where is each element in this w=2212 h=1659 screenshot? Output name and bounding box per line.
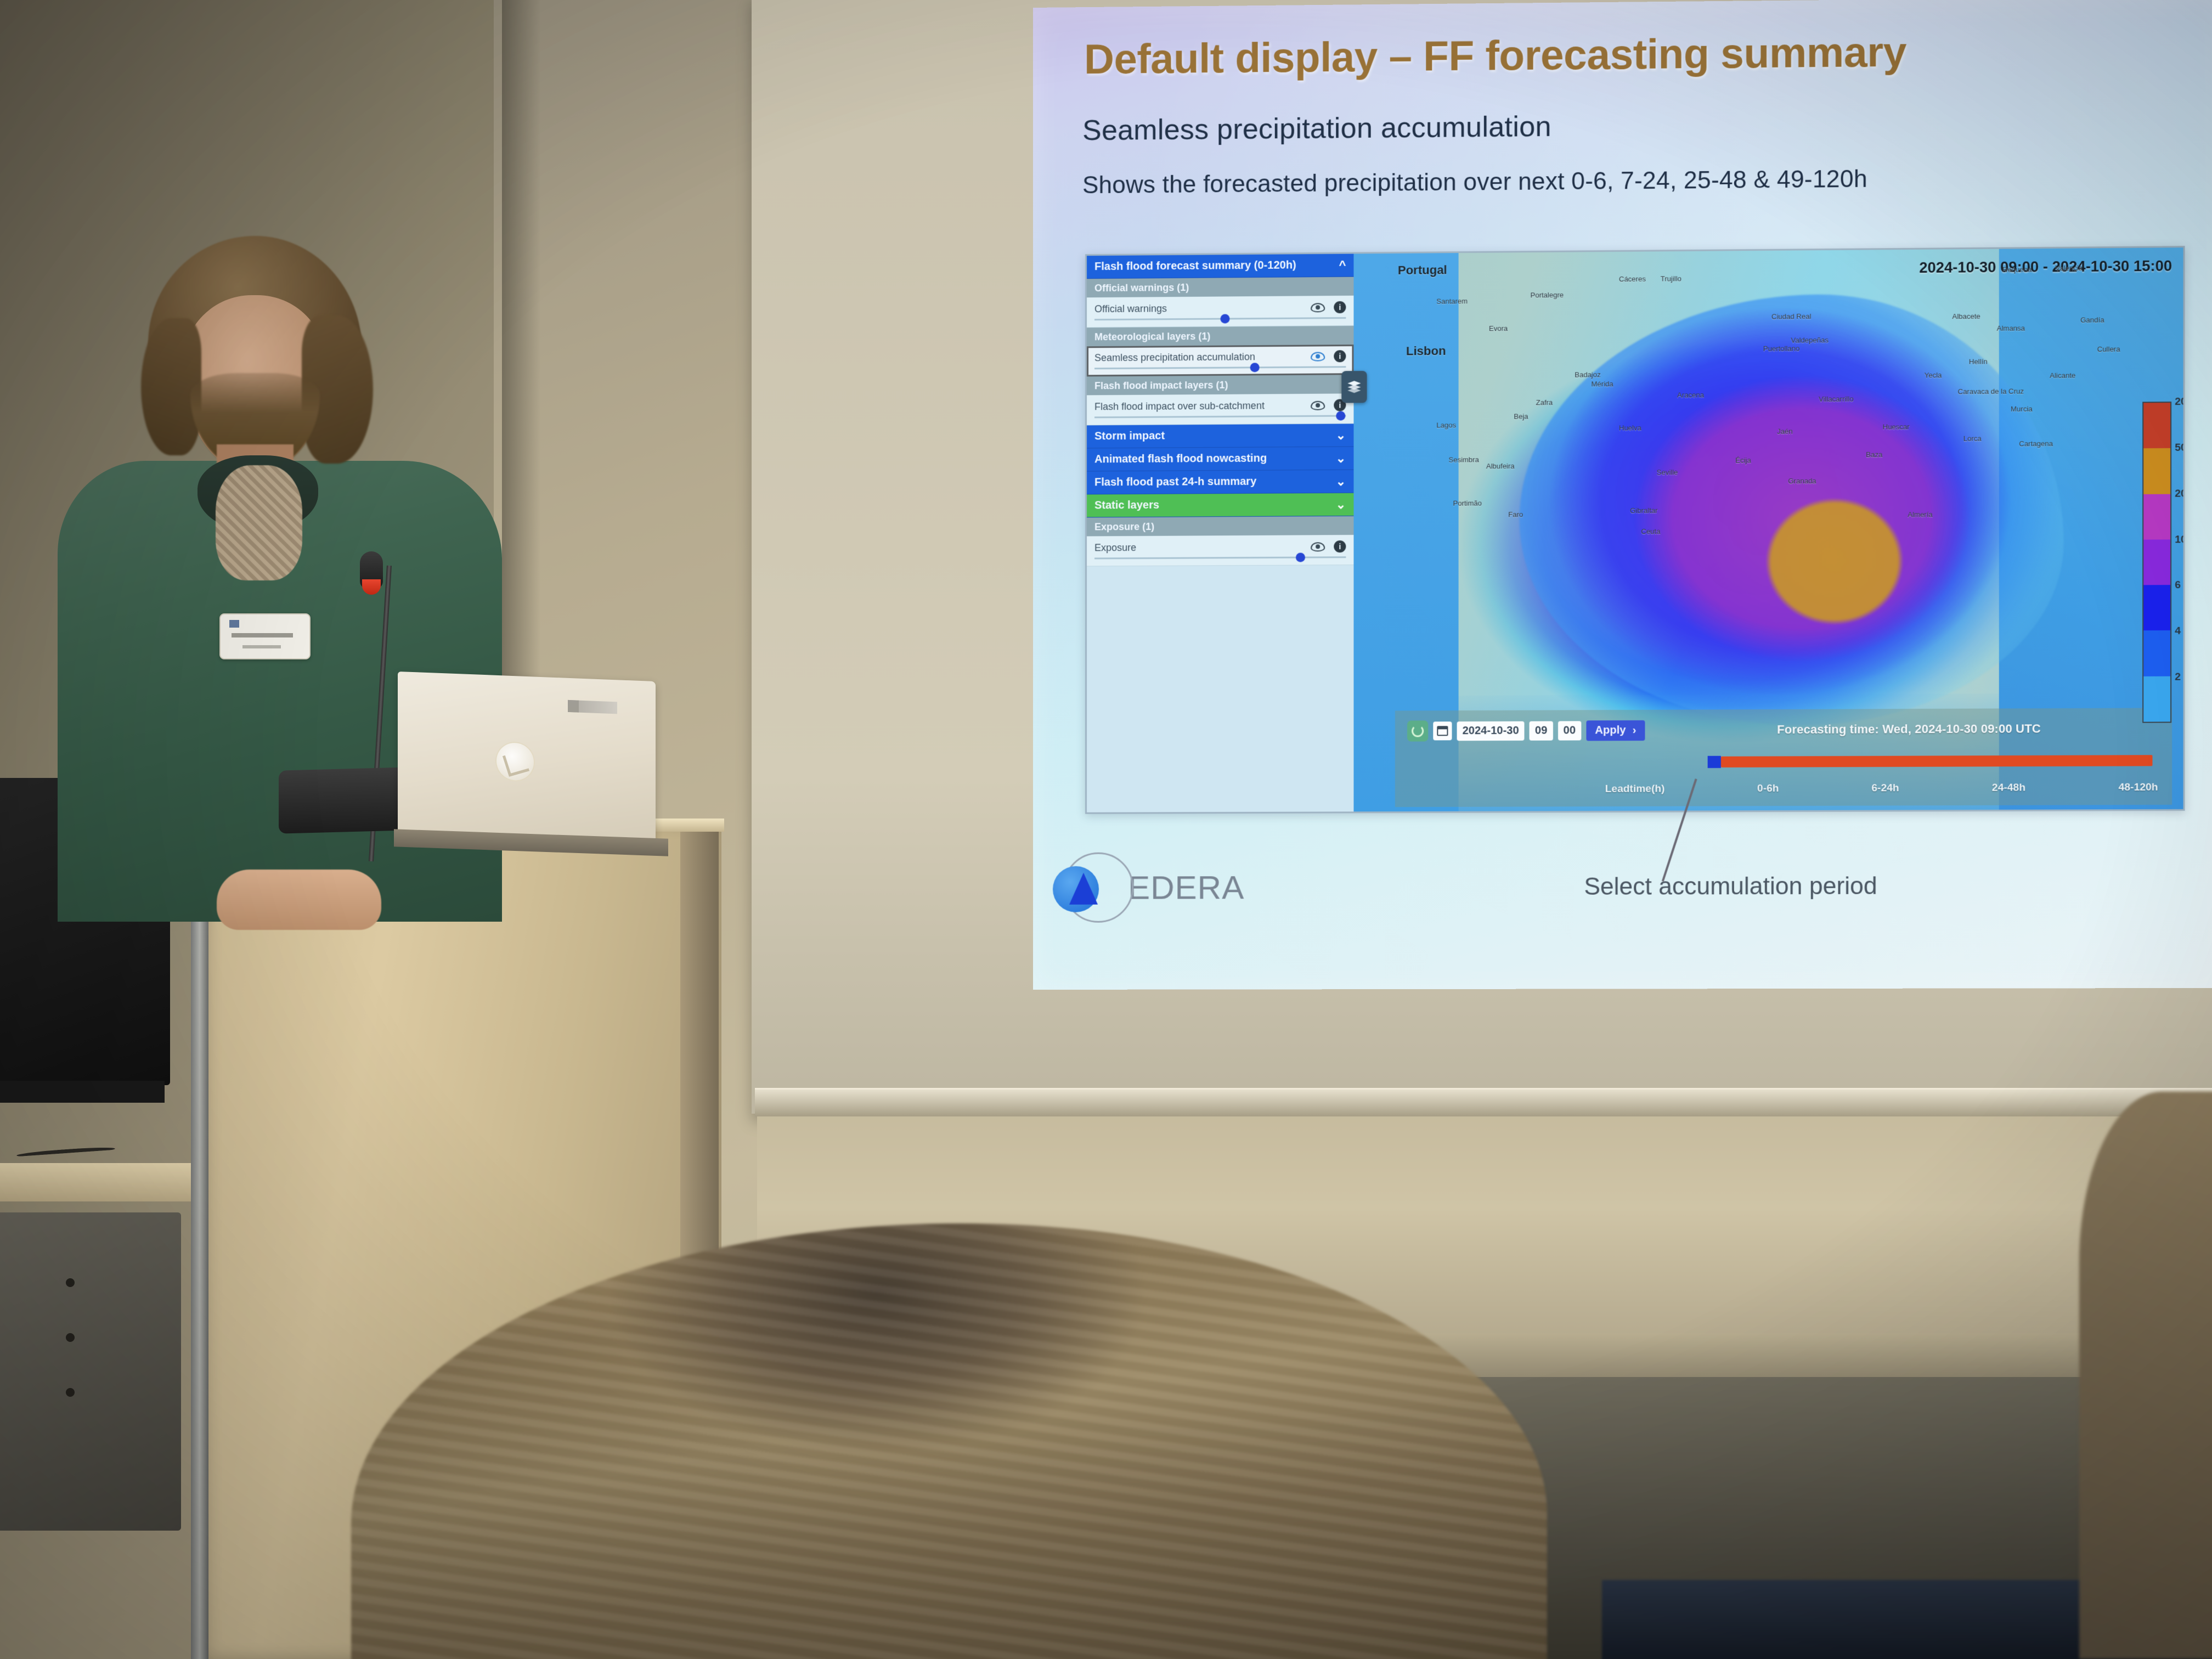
sidebar-section-label: Meteorological layers (1): [1094, 330, 1210, 342]
leadtime-tick-1[interactable]: 6-24h: [1871, 782, 1899, 794]
map-label-albacete: Albacete: [1952, 312, 1980, 320]
map-label-m-rida: Mérida: [1592, 380, 1613, 388]
colorbar-tick-3: 10: [2175, 534, 2185, 546]
map-label-cullera: Cullera: [2097, 345, 2120, 353]
hp-logo-icon: [495, 741, 535, 782]
presentation-slide: Default display – FF forecasting summary…: [1033, 0, 2212, 990]
colorbar-swatches: [2142, 402, 2171, 723]
leadtime-tick-3[interactable]: 48-120h: [2119, 782, 2158, 794]
calendar-icon[interactable]: [1433, 721, 1452, 740]
map-label-ciudad-real: Ciudad Real: [1771, 312, 1811, 321]
map-label-cartagena: Cartagena: [2019, 439, 2053, 448]
presentation-photo: Default display – FF forecasting summary…: [0, 0, 2212, 1659]
map-label-requena: Requena: [2002, 266, 2032, 274]
map-label-huescar: Huescar: [1883, 422, 1910, 431]
sidebar-section-exposure[interactable]: Exposure (1): [1087, 516, 1353, 537]
colorbar-tick-labels: 200502010642: [2175, 396, 2185, 728]
minute-input[interactable]: 00: [1558, 721, 1582, 740]
hp-laptop: [398, 672, 656, 846]
chevron-down-icon[interactable]: ⌄: [1336, 429, 1346, 441]
leadtime-tick-0[interactable]: 0-6h: [1757, 783, 1779, 795]
map-label-portim-o: Portimão: [1453, 499, 1482, 507]
layer-name: Official warnings: [1094, 303, 1167, 315]
layer-opacity-slider[interactable]: [1094, 317, 1346, 320]
sidebar-group-static-layers[interactable]: Static layers ⌄: [1087, 493, 1353, 518]
eye-off-icon[interactable]: [1311, 542, 1325, 551]
leadtime-selected-range[interactable]: [1721, 755, 2153, 768]
eye-off-icon[interactable]: [1311, 303, 1325, 312]
layers-sidebar[interactable]: Flash flood forecast summary (0-120h) ^ …: [1087, 254, 1353, 814]
forecast-map[interactable]: 2024-10-30 09:00 - 2024-10-30 15:00 Port…: [1353, 247, 2183, 811]
layer-name: Exposure: [1094, 542, 1136, 554]
leadtime-tick-2[interactable]: 24-48h: [1992, 782, 2025, 794]
chevron-up-icon[interactable]: ^: [1339, 259, 1346, 271]
layers-stack-icon[interactable]: [1341, 371, 1367, 403]
map-label-sesimbra: Sesimbra: [1448, 455, 1479, 464]
map-label-aracena: Aracena: [1677, 391, 1704, 399]
app-screenshot: Flash flood forecast summary (0-120h) ^ …: [1085, 246, 2185, 814]
map-label-huelva: Huelva: [1619, 424, 1641, 432]
colorbar-swatch-6: [2143, 676, 2170, 721]
map-label-almansa: Almansa: [1997, 324, 2025, 332]
apply-button[interactable]: Apply ›: [1586, 720, 1645, 741]
slide-annotation: Select accumulation period: [1584, 872, 1877, 901]
sidebar-group-flash-flood-past-24h-summary[interactable]: Flash flood past 24-h summary ⌄: [1087, 470, 1353, 495]
map-label-santarem: Santarem: [1436, 297, 1468, 305]
colorbar-tick-6: 2: [2175, 672, 2181, 684]
audience-member-right: [2079, 1092, 2212, 1659]
sidebar-section-label: Exposure (1): [1094, 521, 1154, 533]
map-label-portalegre: Portalegre: [1531, 291, 1564, 299]
map-label-portugal: Portugal: [1398, 263, 1447, 278]
sidebar-group-label: Flash flood forecast summary (0-120h): [1094, 259, 1296, 273]
colorbar-tick-5: 4: [2175, 625, 2181, 637]
slide-title: Default display – FF forecasting summary: [1084, 28, 1906, 83]
precipitation-colorbar: Precipitation [mm/1 hour] or [mm/6 hours…: [2108, 396, 2185, 729]
map-label-ceuta: Ceuta: [1641, 527, 1660, 535]
layer-row-seamless-precipitation-accumulation[interactable]: Seamless precipitation accumulation i: [1087, 345, 1353, 376]
equipment-cart: [0, 1212, 181, 1531]
info-icon[interactable]: i: [1334, 350, 1346, 362]
map-label-albufeira: Albufeira: [1486, 462, 1515, 470]
colorbar-swatch-0: [2143, 403, 2170, 448]
map-label-lisbon: Lisbon: [1406, 344, 1446, 359]
map-label-ja-n: Jaén: [1777, 427, 1793, 436]
laptop-sticker: [568, 700, 617, 714]
layer-opacity-slider[interactable]: [1094, 366, 1346, 369]
colorbar-axis-label: Precipitation [mm/1 hour] or [mm/6 hours…: [2184, 436, 2185, 670]
sidebar-group-label: Storm impact: [1094, 430, 1165, 443]
hour-input[interactable]: 09: [1530, 721, 1553, 740]
layer-row-official-warnings[interactable]: Official warnings i: [1087, 296, 1353, 328]
map-label-evora: Evora: [1489, 324, 1508, 332]
map-label-trujillo: Trujillo: [1661, 274, 1681, 283]
presenter-hands: [217, 870, 381, 930]
map-label-gand-a: Gandía: [2080, 315, 2104, 324]
colorbar-tick-0: 200: [2175, 396, 2185, 408]
layer-name: Flash flood impact over sub-catchment: [1094, 400, 1265, 413]
map-label-baza: Baza: [1866, 450, 1882, 459]
slide-subtitle-primary: Seamless precipitation accumulation: [1082, 110, 1551, 147]
slide-subtitle-secondary: Shows the forecasted precipitation over …: [1082, 165, 1867, 199]
map-label-almer-a: Almería: [1908, 510, 1932, 518]
map-label-hell-n: Hellín: [1969, 357, 1988, 365]
layer-opacity-slider[interactable]: [1094, 556, 1346, 559]
colorbar-tick-4: 6: [2175, 579, 2181, 591]
leadtime-slider-track[interactable]: [1708, 759, 2153, 763]
chevron-down-icon[interactable]: ⌄: [1336, 475, 1346, 487]
map-label-yecla: Yecla: [1925, 371, 1942, 379]
monitor-stand: [0, 1081, 165, 1103]
presenter-hair-left: [141, 318, 201, 455]
sidebar-group-label: Static layers: [1094, 499, 1159, 512]
map-label--cija: Écija: [1735, 456, 1751, 464]
map-label-c-ceres: Cáceres: [1619, 275, 1646, 283]
map-label-gibraltar: Gibraltar: [1630, 506, 1657, 515]
map-label-villacarrillo: Villacarrillo: [1819, 395, 1853, 404]
colorbar-swatch-3: [2143, 539, 2170, 585]
sidebar-section-meteorological-layers[interactable]: Meteorological layers (1): [1087, 326, 1353, 346]
sidebar-section-label: Flash flood impact layers (1): [1094, 379, 1228, 392]
map-label-puertollano: Puertollano: [1763, 345, 1800, 353]
layer-name: Seamless precipitation accumulation: [1094, 351, 1255, 364]
map-label-zafra: Zafra: [1536, 398, 1553, 407]
sidebar-group-label: Flash flood past 24-h summary: [1094, 476, 1256, 489]
presenter-shirt: [216, 465, 302, 580]
layer-row-flash-flood-impact-over-sub-catchment[interactable]: Flash flood impact over sub-catchment i: [1087, 393, 1353, 425]
map-label-murcia: Murcia: [2011, 405, 2033, 413]
map-label-lagos: Lagos: [1436, 421, 1456, 429]
edera-logo-text: EDERA: [1128, 868, 1244, 907]
presenter-name-badge: [219, 613, 311, 659]
map-label-beja: Beja: [1514, 412, 1528, 420]
info-icon[interactable]: i: [1334, 540, 1346, 552]
leadtime-tick-labels: Leadtime(h) 0-6h 6-24h 24-48h 48-120h: [1605, 782, 2158, 795]
map-label-valdepe-as: Valdepeñas: [1791, 336, 1829, 345]
colorbar-tick-2: 20: [2175, 488, 2185, 500]
layer-row-exposure[interactable]: Exposure i: [1087, 535, 1353, 567]
eye-on-icon[interactable]: [1311, 352, 1325, 361]
sidebar-group-storm-impact[interactable]: Storm impact ⌄: [1087, 424, 1353, 448]
edera-mark-icon: [1063, 853, 1133, 923]
colorbar-tick-1: 50: [2175, 442, 2185, 454]
sidebar-group-label: Animated flash flood nowcasting: [1094, 452, 1267, 466]
leadtime-current-marker: [1708, 756, 1721, 768]
info-icon[interactable]: i: [1334, 301, 1346, 313]
map-label-granada: Granada: [1788, 477, 1816, 485]
edera-logo: EDERA: [1063, 852, 1244, 923]
lectern-rail: [191, 834, 208, 1659]
sidebar-section-official-warnings[interactable]: Official warnings (1): [1087, 277, 1353, 298]
sidebar-section-flash-flood-impact-layers[interactable]: Flash flood impact layers (1): [1087, 375, 1353, 395]
eye-off-icon[interactable]: [1311, 400, 1325, 410]
map-label-alicante: Alicante: [2050, 371, 2075, 380]
map-date-range-label: 2024-10-30 09:00 - 2024-10-30 15:00: [1919, 258, 2172, 277]
chevron-down-icon[interactable]: ⌄: [1336, 498, 1346, 510]
leadtime-axis-label: Leadtime(h): [1605, 783, 1665, 795]
chevron-right-icon: ›: [1633, 724, 1637, 737]
screen-bottom-bar: [755, 1088, 2212, 1116]
map-label-faro: Faro: [1508, 510, 1523, 518]
forecasting-time-label: Forecasting time: Wed, 2024-10-30 09:00 …: [1777, 721, 2041, 737]
map-label-seville: Seville: [1657, 468, 1678, 476]
chevron-down-icon[interactable]: ⌄: [1336, 452, 1346, 464]
colorbar-swatch-4: [2143, 585, 2170, 630]
colorbar-swatch-1: [2143, 448, 2170, 494]
date-input[interactable]: 2024-10-30: [1457, 721, 1525, 741]
colorbar-swatch-2: [2143, 494, 2170, 539]
map-label-lorca: Lorca: [1963, 435, 1982, 443]
apply-button-label: Apply: [1595, 724, 1626, 737]
colorbar-swatch-5: [2143, 630, 2170, 676]
map-time-toolbar[interactable]: 2024-10-30 09 00 Apply › Forecasting tim…: [1395, 708, 2172, 807]
sidebar-group-animated-flash-flood-nowcasting[interactable]: Animated flash flood nowcasting ⌄: [1087, 447, 1353, 472]
refresh-icon[interactable]: [1407, 720, 1428, 741]
map-label-badajoz: Badajoz: [1575, 370, 1600, 379]
map-label-valencia: Valencia: [2055, 264, 2083, 272]
sidebar-group-flash-flood-forecast-summary[interactable]: Flash flood forecast summary (0-120h) ^: [1087, 254, 1353, 279]
sidebar-section-label: Official warnings (1): [1094, 281, 1189, 294]
layer-opacity-slider[interactable]: [1094, 415, 1346, 418]
map-label-caravaca-de-la-cruz: Caravaca de la Cruz: [1958, 387, 2024, 396]
